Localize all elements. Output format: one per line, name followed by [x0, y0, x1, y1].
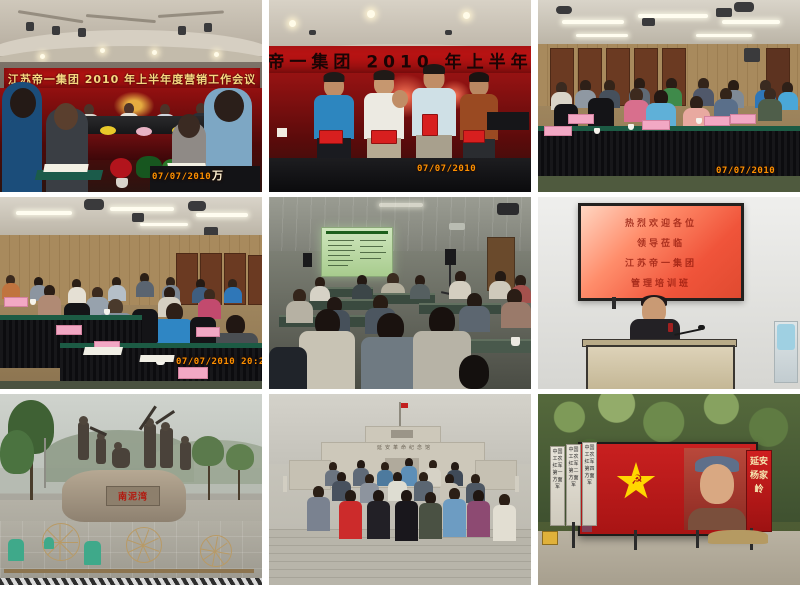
name-card — [4, 297, 28, 307]
slide-text-line — [328, 250, 355, 251]
ceiling-downlight — [214, 52, 219, 57]
slide-text-line — [328, 240, 354, 241]
historic-portrait — [684, 448, 750, 530]
trainee-body — [410, 284, 430, 299]
vertical-red-banner: 延安杨家岭 — [746, 450, 772, 532]
plant-pot — [116, 178, 128, 188]
ceiling-tube-light — [110, 207, 174, 211]
microphone-head-icon — [698, 325, 705, 330]
bronze-figure-head — [181, 436, 189, 444]
table-flowers — [136, 127, 152, 136]
slide-title-bar — [326, 231, 388, 234]
photo-training-classroom — [269, 197, 531, 389]
trainee-body — [310, 286, 330, 301]
slide-text-line — [360, 246, 383, 247]
warning-sign — [542, 531, 558, 545]
monument-plaque-text: 南泥湾 — [118, 490, 148, 503]
trainee-body — [286, 301, 313, 323]
ceiling-tube-light — [196, 213, 248, 217]
ceiling-tube-light — [140, 223, 188, 226]
group-member-body — [367, 501, 390, 539]
slide-text-line — [328, 265, 348, 266]
ceiling-speaker-icon — [716, 8, 732, 17]
trainee-body — [459, 306, 490, 332]
billboard-column-2-text: 中国工农红军第二方面军 — [567, 447, 580, 489]
stage-spotlight-icon — [309, 30, 316, 35]
ceiling-downlight — [367, 10, 375, 18]
stage-spotlight-icon — [178, 26, 186, 35]
slide-text-line — [328, 255, 350, 256]
red-envelope — [422, 114, 438, 136]
projector-icon — [497, 203, 519, 215]
collage-cell-9[interactable]: ☭ 延安杨家岭 中国工农红军第一方面军 中国工农红军第二方面军 中国工农红军第四… — [538, 394, 800, 585]
tea-cup — [30, 299, 36, 305]
collage-cell-6[interactable]: 热烈欢迎各位 领导莅临 江苏帝一集团 管理培训班 — [538, 197, 800, 389]
green-chair — [8, 539, 24, 561]
floor-speaker-icon — [445, 249, 456, 265]
wall-speaker-icon — [303, 253, 312, 267]
red-envelope — [463, 130, 485, 143]
photo-conference-opening: 江苏帝一集团 2010 年上半年度营销工作会议 — [0, 0, 262, 192]
stage-front-table — [269, 158, 531, 192]
name-card — [704, 116, 730, 126]
slide-line-2: 领导莅临 — [637, 236, 685, 249]
slide-line-3: 江苏帝一集团 — [625, 256, 697, 269]
railing-post — [515, 476, 519, 492]
stage-spotlight-icon — [52, 26, 60, 35]
billboard-column-2: 中国工农红军第二方面军 — [566, 444, 581, 526]
name-card — [56, 325, 82, 335]
bronze-figure — [144, 424, 156, 468]
collage-cell-7[interactable]: 南泥湾 — [0, 394, 262, 585]
tea-cup — [104, 309, 110, 315]
delegate-papers — [43, 164, 88, 172]
tea-cup — [594, 128, 600, 134]
stage-spotlight-icon — [26, 22, 34, 31]
carpet — [538, 176, 800, 192]
side-table — [487, 112, 529, 130]
projector-icon — [556, 6, 572, 14]
name-card — [196, 327, 220, 337]
ceiling-speaker-icon — [642, 18, 655, 26]
awardee-hair — [324, 72, 345, 82]
ceiling-tube-light — [379, 203, 423, 207]
delegate-body — [224, 287, 242, 303]
tree-canopy — [0, 430, 34, 474]
bronze-figure — [180, 442, 191, 470]
delegate-body — [758, 99, 782, 121]
propaganda-billboard: ☭ 延安杨家岭 — [578, 442, 758, 536]
photo-award-presentation: 苏帝一集团 2010 年上半年度 — [269, 0, 531, 192]
billboard-column-3: 中国工农红军第四方面军 — [582, 442, 597, 526]
photo-timestamp-extra: 万 — [212, 167, 224, 183]
projector-icon — [84, 199, 104, 210]
vertical-banner-text: 延安杨家岭 — [747, 455, 771, 497]
stage-spotlight-icon — [78, 28, 86, 37]
name-card — [178, 367, 208, 379]
portrait-face — [700, 464, 734, 504]
slide-text-line — [328, 260, 353, 261]
ceiling-tube-light — [696, 34, 752, 37]
tower-window — [391, 430, 413, 438]
memorial-hall-name: 延安革命纪念馆 — [377, 444, 433, 451]
name-card — [642, 120, 670, 130]
ceiling-tube-light — [16, 211, 72, 215]
photo-delegates-seated: 07/07/2010 — [538, 0, 800, 192]
audience-member-head — [54, 103, 78, 130]
ceiling — [0, 197, 262, 239]
ceiling — [538, 0, 800, 48]
portrait-uniform — [688, 508, 746, 530]
bronze-figure — [78, 422, 89, 460]
lamp-post — [44, 438, 46, 488]
bronze-figure-head — [79, 416, 88, 425]
collage-cell-5[interactable] — [269, 197, 531, 389]
ceiling-downlight — [289, 20, 296, 27]
wheel-spoke — [60, 542, 78, 543]
bronze-figure-head — [161, 422, 170, 431]
collage-cell-8[interactable]: 延安革命纪念馆 — [269, 394, 531, 585]
award-banner-text: 苏帝一集团 2010 年上半年度 — [269, 47, 531, 72]
national-flag-icon — [401, 403, 408, 408]
ceiling-downlight — [40, 54, 45, 59]
audience-member-head — [214, 90, 244, 122]
trainee-head — [459, 355, 489, 389]
stage-flower-arrangement — [110, 158, 132, 178]
ceiling-tube-light — [562, 20, 624, 24]
delegate-body — [68, 287, 86, 303]
bronze-figure — [160, 428, 173, 468]
monument-plaque: 南泥湾 — [106, 486, 160, 506]
photo-timestamp: 07/07/2010 — [417, 164, 476, 174]
ceiling-speaker-icon — [132, 213, 144, 222]
delegate-body — [198, 299, 221, 319]
green-chair — [84, 541, 101, 565]
red-envelope — [319, 130, 343, 144]
billboard-support-leg — [634, 530, 637, 550]
wheel-spoke — [60, 543, 61, 561]
name-card — [568, 114, 594, 124]
group-member-body — [307, 497, 330, 531]
slide-text-line — [360, 252, 386, 253]
photo-nanniwan-monument: 南泥湾 — [0, 394, 262, 585]
trainee-body — [269, 347, 307, 389]
awardee-hair — [374, 70, 395, 80]
photo-timestamp: 07/07/2010 — [716, 166, 775, 176]
railing-post — [283, 476, 287, 492]
classroom-desk — [467, 339, 531, 353]
photo-speaker-at-lectern: 热烈欢迎各位 领导莅临 江苏帝一集团 管理培训班 — [538, 197, 800, 389]
conference-banner: 江苏帝一集团 2010 年上半年度营销工作会议 — [4, 68, 260, 90]
projection-screen: 热烈欢迎各位 领导莅临 江苏帝一集团 管理培训班 — [578, 203, 744, 301]
awardee-hair — [469, 72, 489, 82]
lectern — [586, 345, 735, 389]
water-cooler — [774, 321, 798, 383]
table-flowers — [100, 126, 116, 135]
tea-cup — [696, 118, 702, 124]
tree-canopy — [226, 444, 254, 470]
photo-timestamp: 07/07/2010 — [152, 172, 211, 182]
bronze-figure-head — [114, 442, 122, 450]
water-cup — [511, 337, 520, 346]
hall-door — [248, 255, 262, 305]
stage-spotlight-icon — [204, 23, 212, 32]
hammer-sickle-icon: ☭ — [630, 474, 644, 488]
collage-cell-3[interactable]: 07/07/2010 — [538, 0, 800, 192]
red-envelope — [371, 130, 397, 144]
trainee-body — [352, 284, 372, 299]
ceiling-tube-light — [576, 34, 628, 37]
billboard-support-leg — [696, 530, 699, 548]
dirt-mound — [708, 530, 768, 544]
ceiling-downlight — [100, 48, 105, 53]
awardee-hair — [423, 64, 445, 74]
wall-speaker-icon — [744, 48, 760, 62]
slide-text-line — [360, 258, 381, 259]
green-chair — [44, 537, 54, 549]
group-member-body — [395, 501, 418, 541]
foreground-fence — [0, 578, 262, 585]
bronze-figure — [96, 438, 106, 464]
trainee-body — [361, 337, 421, 389]
projection-screen — [321, 227, 393, 277]
slide-text-line — [328, 245, 352, 246]
name-card — [544, 126, 572, 136]
slide-line-1: 热烈欢迎各位 — [625, 216, 697, 229]
billboard-support-leg — [572, 522, 575, 548]
ceiling-vent-icon — [449, 223, 465, 230]
name-card — [730, 114, 756, 124]
delegate-body — [38, 295, 61, 315]
billboard-column-1-text: 中国工农红军第一方面军 — [551, 449, 564, 491]
photo-collage-grid: 江苏帝一集团 2010 年上半年度营销工作会议 — [0, 0, 800, 590]
cup — [277, 128, 287, 137]
trainee-body — [501, 302, 531, 328]
wooden-rail — [4, 569, 254, 573]
carpet — [0, 381, 262, 389]
photo-group-at-memorial-hall: 延安革命纪念馆 — [269, 394, 531, 585]
billboard-column-1: 中国工农红军第一方面军 — [550, 446, 565, 526]
lapel-badge — [668, 323, 673, 332]
group-member-body — [467, 501, 490, 537]
delegate-papers — [139, 355, 174, 362]
slide-line-4: 管理培训班 — [631, 276, 691, 289]
group-member-body — [339, 501, 362, 539]
screen-pull-handle — [612, 297, 616, 309]
billboard-column-3-text: 中国工农红军第四方面军 — [583, 445, 596, 487]
photo-timestamp: 07/07/2010 20:28 — [176, 357, 262, 367]
ceiling-tube-light — [722, 20, 780, 24]
delegate-head — [226, 315, 245, 335]
projector-icon — [734, 2, 754, 12]
audience-member-head — [178, 114, 200, 138]
group-member-body — [493, 505, 516, 541]
audience-member-head — [10, 88, 36, 118]
conference-banner-text: 江苏帝一集团 2010 年上半年度营销工作会议 — [8, 71, 256, 87]
award-banner: 苏帝一集团 2010 年上半年度 — [269, 46, 531, 73]
collage-cell-1[interactable]: 江苏帝一集团 2010 年上半年度营销工作会议 — [0, 0, 262, 192]
ceiling-downlight — [152, 50, 157, 55]
photo-conference-wide-view: 07/07/2010 20:28 — [0, 197, 262, 389]
seated-woman-head — [392, 90, 408, 108]
stage-spotlight-icon — [445, 30, 452, 35]
water-jug — [777, 324, 795, 350]
collage-cell-4[interactable]: 07/07/2010 20:28 — [0, 197, 262, 389]
group-member-body — [419, 503, 442, 539]
trainee-body — [299, 331, 355, 389]
ceiling-downlight — [463, 12, 470, 19]
delegate-papers — [83, 347, 123, 355]
tree-canopy — [192, 436, 224, 466]
photo-yanan-billboard: ☭ 延安杨家岭 中国工农红军第一方面军 中国工农红军第二方面军 中国工农红军第四… — [538, 394, 800, 585]
tea-cup — [628, 124, 634, 130]
collage-cell-2[interactable]: 苏帝一集团 2010 年上半年度 — [269, 0, 531, 192]
bronze-figure-crouching — [112, 448, 130, 468]
delegate-body — [136, 281, 154, 297]
projector-icon — [188, 201, 206, 211]
slide-text-line — [360, 240, 386, 241]
group-member-body — [443, 499, 466, 537]
